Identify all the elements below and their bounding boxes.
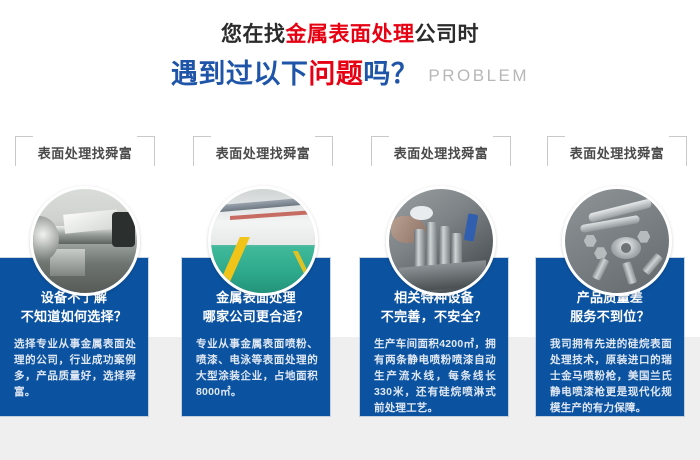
problem-card[interactable]: 表面处理找舜富 产品质量差 服务不到位？ 我司拥有先进的硅烷表面处理技术，原装进… (532, 136, 700, 426)
problem-card-list: 表面处理找舜富 设备不了解 不知道如何选择？ 选择专业从事金属表面处理的公司，行… (0, 136, 700, 426)
card-tag-label: 表面处理找舜富 (193, 143, 333, 162)
heading-line2-post: 吗？ (363, 59, 418, 89)
heading-line1-pre: 您在找 (221, 23, 286, 46)
heading-line2-pre: 遇到过以 (171, 59, 281, 89)
card-tag-bracket: 表面处理找舜富 (371, 136, 511, 170)
photo-shape (292, 251, 318, 296)
photo-shape (622, 261, 637, 285)
photo-shape (584, 235, 597, 247)
bracket-corner-top-right-h (669, 136, 687, 137)
heading-line2-mid: 下 (281, 59, 309, 89)
heading-line1-post: 公司时 (415, 23, 480, 46)
heading-line1-highlight: 金属表面处理 (286, 23, 415, 46)
bracket-corner-top-left-h (15, 136, 33, 137)
card-title-line-2: 不知道如何选择？ (0, 307, 148, 326)
photo-shape (637, 231, 650, 243)
photo-shape (399, 260, 486, 293)
photo-shape (464, 213, 479, 241)
card-body-text: 生产车间面积4200㎡，拥有两条静电喷粉喷漆自动生产流水线，每条线长330米，还… (374, 336, 496, 416)
card-body-text: 专业从事金属表面喷粉、喷漆、电泳等表面处理的大型涂装企业，占地面积8000㎡。 (196, 336, 318, 400)
bracket-corner-top-right-h (137, 136, 155, 137)
card-tag-bracket: 表面处理找舜富 (547, 136, 687, 170)
photo-shape (112, 212, 135, 247)
card-tag-label: 表面处理找舜富 (15, 143, 155, 162)
bracket-corner-top-left-h (371, 136, 389, 137)
photo-shape (63, 209, 119, 233)
card-tag-bracket: 表面处理找舜富 (193, 136, 333, 170)
card-title-line-2: 服务不到位？ (536, 307, 684, 326)
photo-shape (410, 206, 433, 221)
heading-line2-highlight: 问题 (308, 59, 363, 89)
factory-corridor-image (211, 189, 315, 293)
card-tag-bracket: 表面处理找舜富 (15, 136, 155, 170)
photo-shape (642, 253, 663, 276)
promo-page: 您在找金属表面处理公司时 遇到过以下问题吗？PROBLEM 表面处理找舜富 设备… (0, 0, 700, 460)
page-heading: 您在找金属表面处理公司时 遇到过以下问题吗？PROBLEM (0, 0, 700, 93)
problem-card[interactable]: 表面处理找舜富 金属表面处理 哪家公司更合适？ 专业从事金属表面喷粉、喷漆、电泳… (178, 136, 348, 426)
bracket-corner-top-left-h (547, 136, 565, 137)
card-tag-label: 表面处理找舜富 (547, 143, 687, 162)
card-title-line-2: 不完善，不安全？ (360, 307, 508, 326)
card-title-line-2: 哪家公司更合适？ (182, 307, 330, 326)
card-photo (30, 186, 140, 296)
problem-card[interactable]: 表面处理找舜富 相关特种设备 不完善，不安全？ 生产车间面积4200㎡，拥有两条… (356, 136, 526, 426)
fasteners-products-image (565, 189, 669, 293)
bracket-corner-top-left-h (193, 136, 211, 137)
card-photo (562, 186, 672, 296)
card-body-text: 选择专业从事金属表面处理的公司，行业成功案例多，产品质量好，选择舜富。 (14, 336, 136, 400)
lathe-machining-image (33, 189, 137, 293)
card-body-text: 我司拥有先进的硅烷表面处理技术，原装进口的瑞士金马喷粉枪，美国兰氏静电喷漆枪更是… (550, 336, 672, 416)
card-tag-label: 表面处理找舜富 (371, 143, 511, 162)
heading-line-2: 遇到过以下问题吗？PROBLEM (0, 57, 700, 93)
photo-shape (592, 257, 610, 281)
problem-card[interactable]: 表面处理找舜富 设备不了解 不知道如何选择？ 选择专业从事金属表面处理的公司，行… (0, 136, 170, 426)
photo-shape (611, 237, 641, 259)
photo-shape (212, 237, 250, 296)
heading-line-1: 您在找金属表面处理公司时 (0, 22, 700, 48)
card-photo (208, 186, 318, 296)
heading-english-label: PROBLEM (428, 66, 529, 85)
photo-shape (50, 249, 85, 276)
special-equipment-image (389, 189, 493, 293)
bracket-corner-top-right-h (315, 136, 333, 137)
card-photo (386, 186, 496, 296)
bracket-corner-top-right-h (493, 136, 511, 137)
